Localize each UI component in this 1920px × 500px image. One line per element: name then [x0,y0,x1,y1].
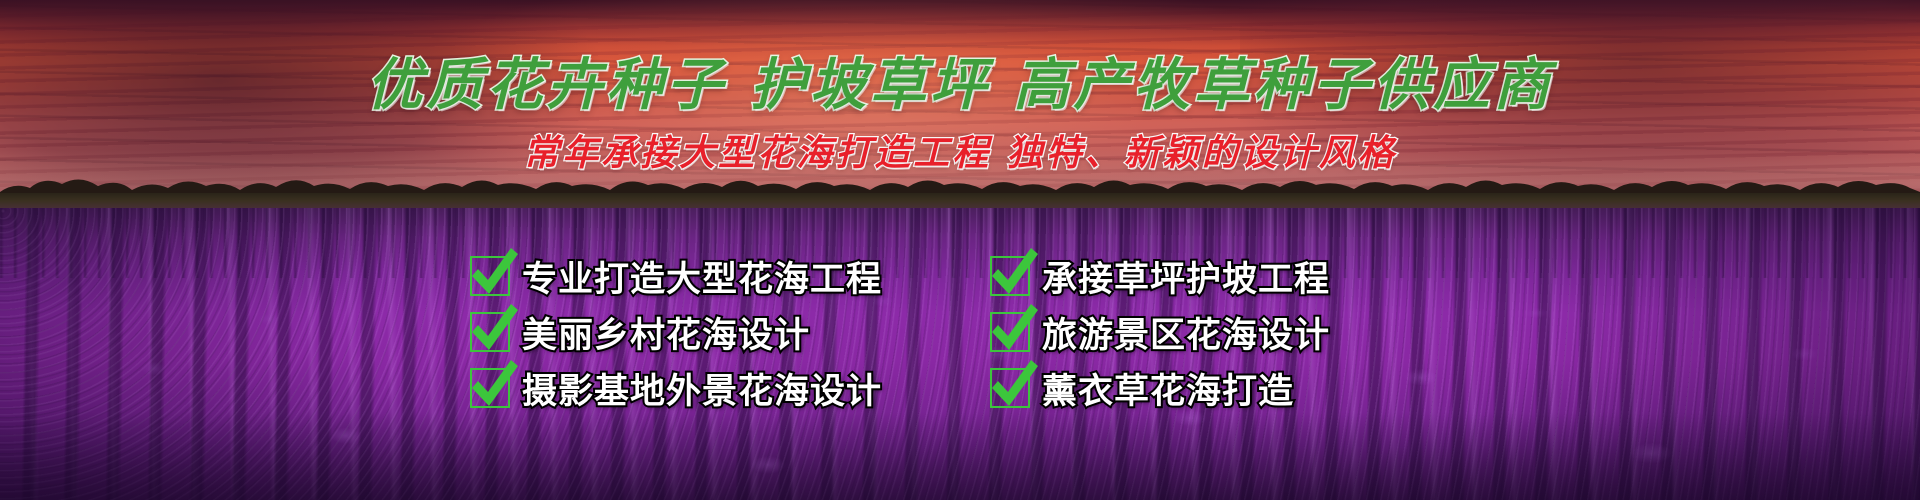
check-mark-icon [470,256,510,296]
list-item-label: 承接草坪护坡工程 [1042,251,1330,302]
list-item-label: 专业打造大型花海工程 [522,251,882,302]
list-item: 承接草坪护坡工程 [990,248,1470,304]
check-mark-icon [990,368,1030,408]
list-item: 薰衣草花海打造 [990,360,1470,416]
check-mark-icon [990,256,1030,296]
list-item-label: 旅游景区花海设计 [1042,307,1330,358]
check-mark-icon [990,312,1030,352]
page-subtitle: 常年承接大型花海打造工程 独特、新颖的设计风格 [0,124,1920,176]
feature-checklist: 专业打造大型花海工程 承接草坪护坡工程 美丽乡村花海设计 [470,248,1470,416]
promo-banner: 优质花卉种子 护坡草坪 高产牧草种子供应商 常年承接大型花海打造工程 独特、新颖… [0,0,1920,500]
check-mark-icon [470,368,510,408]
list-item: 美丽乡村花海设计 [470,304,990,360]
list-item: 旅游景区花海设计 [990,304,1470,360]
list-item-label: 美丽乡村花海设计 [522,307,810,358]
list-item: 摄影基地外景花海设计 [470,360,990,416]
page-title: 优质花卉种子 护坡草坪 高产牧草种子供应商 [0,40,1920,121]
list-item-label: 摄影基地外景花海设计 [522,363,882,414]
list-item-label: 薰衣草花海打造 [1042,363,1294,414]
list-item: 专业打造大型花海工程 [470,248,990,304]
check-mark-icon [470,312,510,352]
